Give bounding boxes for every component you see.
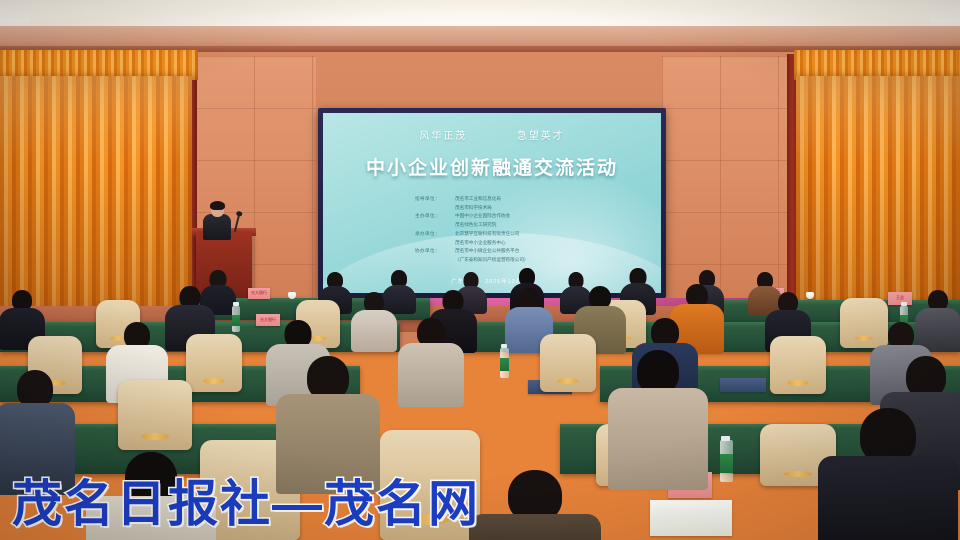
bottle-label (232, 315, 240, 326)
organizer-name: 北京慧学互联科技有限责任公司 (455, 230, 615, 239)
organizer-name: 茂名绿色化工研究院 (455, 221, 615, 230)
water-bottle (232, 306, 240, 332)
organizer-row: 主办单位： 中国中小企业国际合作协会 茂名绿色化工研究院 (415, 212, 615, 229)
notepad (650, 500, 732, 536)
watermark: 茂名日报社—茂名网 (12, 464, 480, 536)
attendee-body (351, 310, 397, 352)
bottle-cap (233, 302, 239, 306)
attendee-body (469, 514, 601, 540)
bottle-label (500, 358, 509, 371)
attendee-body (398, 343, 464, 407)
organizer-row: 承办单位： 北京慧学互联科技有限责任公司 茂名市中小企业服务中心 (415, 230, 615, 247)
screen-slogan-left: 风华正茂 (419, 127, 467, 142)
organizer-names: 中国中小企业国际合作协会 茂名绿色化工研究院 (455, 212, 615, 229)
chair (770, 336, 826, 394)
notepad (720, 378, 766, 392)
name-card: 王总 (888, 292, 912, 305)
conference-photo: 风华正茂 急望英才 中小企业创新融通交流活动 指导单位： 茂名市工业和信息化局 … (0, 0, 960, 540)
organizer-label: 承办单位： (415, 230, 455, 247)
attendee (400, 318, 462, 402)
organizer-label: 指导单位： (415, 195, 455, 212)
water-bottle (500, 348, 509, 378)
speaker-hair (210, 201, 225, 210)
organizer-name: 茂名市中小企业服务中心 (455, 239, 615, 248)
organizer-name: （广东泰和知识产权运营有限公司） (455, 256, 615, 265)
organizer-name: 中国中小企业国际合作协会 (455, 212, 615, 221)
chair (540, 334, 596, 392)
attendee (612, 350, 704, 480)
chair (118, 380, 192, 450)
organizer-names: 茂名市中小微企业公共服务平台 （广东泰和知识产权运营有限公司） (455, 247, 615, 264)
bottle-cap (721, 436, 730, 441)
organizer-label: 主办单位： (415, 212, 455, 229)
organizer-names: 茂名市工业和信息化局 茂名市科学技术局 (455, 195, 615, 212)
name-card-line1: 光大银行 (251, 291, 267, 295)
bottle-cap (901, 302, 907, 306)
attendee (352, 292, 396, 350)
attendee-body (818, 456, 958, 540)
attendee (828, 408, 948, 540)
curtain-right (796, 76, 960, 326)
organizer-name: 茂名市中小微企业公共服务平台 (455, 247, 615, 256)
name-card: 光大银行 (248, 288, 270, 299)
water-bottle (720, 440, 733, 482)
organizer-name: 茂名市工业和信息化局 (455, 195, 615, 204)
attendee (480, 470, 590, 540)
led-screen: 风华正茂 急望英才 中小企业创新融通交流活动 指导单位： 茂名市工业和信息化局 … (323, 113, 661, 293)
curtain-left (0, 76, 192, 326)
organizer-name: 茂名市科学技术局 (455, 204, 615, 213)
screen-date-line: 广东茂名 · 2025年12月4日 (323, 277, 661, 285)
bottle-label (720, 454, 733, 472)
bottle-cap (501, 344, 507, 348)
chair (186, 334, 242, 392)
attendee-body (608, 388, 708, 490)
speaker-body (203, 214, 231, 240)
screen-slogan: 风华正茂 急望英才 (323, 127, 661, 142)
curtain-shading (796, 76, 960, 326)
wall-panel-right (662, 56, 794, 306)
screen-organizer-list: 指导单位： 茂名市工业和信息化局 茂名市科学技术局 主办单位： 中国中小企业国际… (415, 195, 615, 265)
organizer-row: 协办单位： 茂名市中小微企业公共服务平台 （广东泰和知识产权运营有限公司） (415, 247, 615, 264)
name-card-line1: 王总 (896, 296, 904, 300)
organizer-names: 北京慧学互联科技有限责任公司 茂名市中小企业服务中心 (455, 230, 615, 247)
curtain-shading (0, 76, 192, 326)
organizer-label: 协办单位： (415, 247, 455, 264)
organizer-row: 指导单位： 茂名市工业和信息化局 茂名市科学技术局 (415, 195, 615, 212)
screen-slogan-right: 急望英才 (517, 127, 565, 142)
screen-main-title: 中小企业创新融通交流活动 (323, 153, 661, 180)
